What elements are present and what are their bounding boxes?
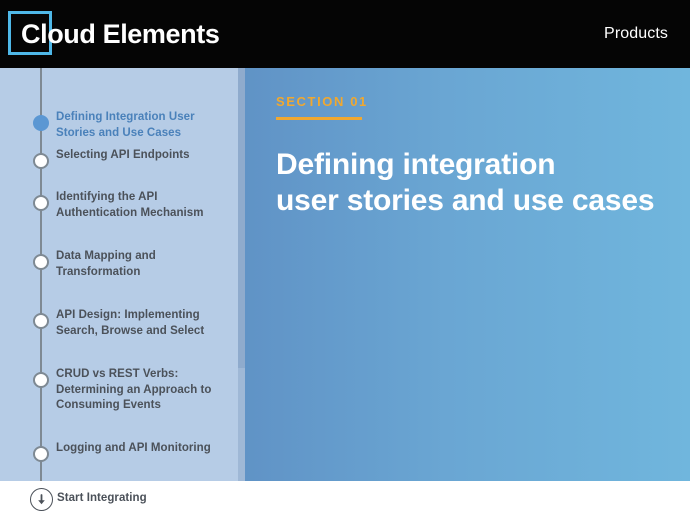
sidebar-item-label: Selecting API Endpoints <box>56 148 234 164</box>
sidebar-item-label: Logging and API Monitoring <box>56 441 234 457</box>
section-kicker: SECTION 01 <box>276 94 368 109</box>
step-dot-icon <box>33 254 49 270</box>
sidebar-item-selecting-api-endpoints[interactable]: Selecting API Endpoints <box>0 148 238 180</box>
step-dot-icon <box>33 372 49 388</box>
sidebar-scrollbar[interactable] <box>238 68 245 481</box>
sidebar-item-label: CRUD vs REST Verbs: Determining an Appro… <box>56 367 234 414</box>
step-dot-icon <box>33 446 49 462</box>
page-title-line-1: Defining integration <box>276 147 671 183</box>
sidebar-item-crud-vs-rest-verbs[interactable]: CRUD vs REST Verbs: Determining an Appro… <box>0 366 238 430</box>
sidebar-item-label: Identifying the API Authentication Mecha… <box>56 190 234 221</box>
sidebar-item-api-design-search-browse-select[interactable]: API Design: Implementing Search, Browse … <box>0 307 238 355</box>
sidebar-item-label: Defining Integration User Stories and Us… <box>56 110 234 141</box>
site-header: Cloud Elements Products <box>0 0 690 68</box>
sidebar-nav: Defining Integration User Stories and Us… <box>0 68 245 481</box>
sidebar-item-data-mapping-and-transformation[interactable]: Data Mapping and Transformation <box>0 248 238 296</box>
sidebar-item-label: Data Mapping and Transformation <box>56 249 234 280</box>
sidebar-item-logging-and-api-monitoring[interactable]: Logging and API Monitoring <box>0 441 238 473</box>
step-dot-icon <box>33 195 49 211</box>
start-integrating-button[interactable]: Start Integrating <box>0 481 245 520</box>
sidebar-item-label: API Design: Implementing Search, Browse … <box>56 308 234 339</box>
start-integrating-label: Start Integrating <box>57 492 147 504</box>
brand-name: Cloud Elements <box>21 21 219 48</box>
section-kicker-rule <box>276 117 362 120</box>
download-arrow-icon <box>30 488 53 511</box>
slide-page: Cloud Elements Products Defining Integra… <box>0 0 690 520</box>
main-content-panel: SECTION 01 Defining integration user sto… <box>245 68 690 481</box>
step-dot-icon <box>33 115 49 131</box>
sidebar-scrollbar-thumb[interactable] <box>238 68 245 368</box>
page-title-line-2: user stories and use cases <box>276 183 671 219</box>
body-region: Defining Integration User Stories and Us… <box>0 68 690 520</box>
step-dot-icon <box>33 313 49 329</box>
sidebar-item-identifying-api-authentication[interactable]: Identifying the API Authentication Mecha… <box>0 189 238 237</box>
bottom-white-strip <box>245 481 690 520</box>
step-dot-icon <box>33 153 49 169</box>
page-title: Defining integration user stories and us… <box>276 147 671 219</box>
sidebar-item-defining-integration-user-stories[interactable]: Defining Integration User Stories and Us… <box>0 88 238 138</box>
brand-logo[interactable]: Cloud Elements <box>8 0 219 68</box>
nav-item-products[interactable]: Products <box>604 25 668 43</box>
header-nav: Products <box>604 0 668 68</box>
